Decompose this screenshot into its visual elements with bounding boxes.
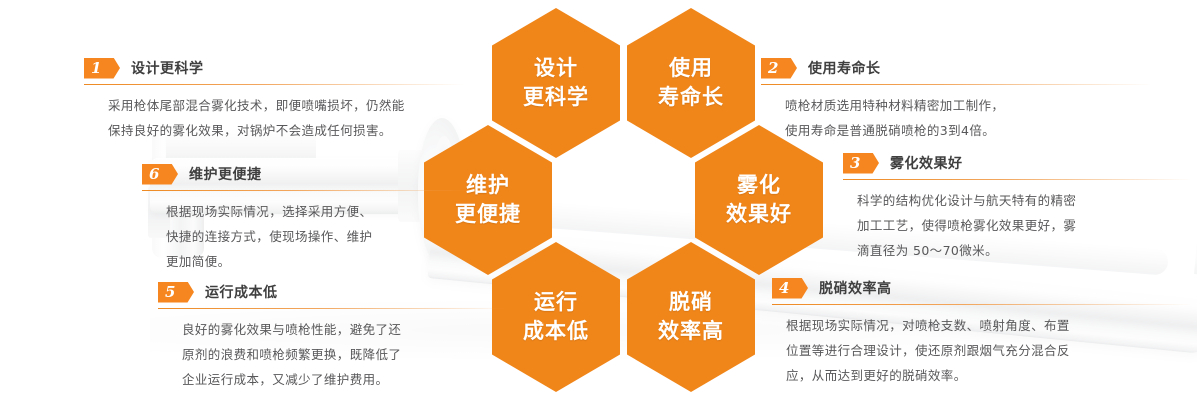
feature-5-line-2: 原剂的浪费和喷枪频繁更换，既降低了 (182, 342, 508, 367)
hexagon-design-line1: 设计 (534, 54, 578, 83)
feature-5-number: 5 (165, 285, 175, 300)
feature-3-line-2: 加工工艺，使得喷枪雾化效果更好，雾 (857, 213, 1191, 238)
hexagon-design-line2: 更科学 (523, 83, 589, 112)
feature-block-3: 3 雾化效果好 科学的结构优化设计与航天特有的精密 加工工艺，使得喷枪雾化效果更… (843, 152, 1191, 263)
hexagon-atomization-line1: 雾化 (737, 171, 781, 200)
feature-6-line-3: 更加简便。 (166, 249, 472, 274)
feature-6-number-badge-icon: 6 (142, 164, 178, 185)
feature-2-number-badge-icon: 2 (761, 58, 797, 79)
hexagon-cost-line2: 成本低 (523, 317, 589, 346)
feature-1-header: 1 设计更科学 (84, 57, 464, 79)
hexagon-maintenance-line1: 维护 (466, 171, 510, 200)
feature-4-title: 脱硝效率高 (819, 278, 892, 298)
feature-5-line-1: 良好的雾化效果与喷枪性能，避免了还 (182, 317, 508, 342)
feature-2-header: 2 使用寿命长 (761, 57, 1151, 79)
feature-4-divider (772, 304, 1192, 305)
feature-1-body: 采用枪体尾部混合雾化技术，即便喷嘴损坏，仍然能 保持良好的雾化效果，对锅炉不会造… (84, 93, 464, 143)
hexagon-cost[interactable]: 运行 成本低 (492, 242, 620, 392)
feature-4-line-3: 应，从而达到更好的脱硝效率。 (786, 363, 1192, 388)
feature-1-line-2: 保持良好的雾化效果，对锅炉不会造成任何损害。 (108, 118, 464, 143)
feature-1-line-1: 采用枪体尾部混合雾化技术，即便喷嘴损坏，仍然能 (108, 93, 464, 118)
feature-6-body: 根据现场实际情况，选择采用方便、 快捷的连接方式，使现场操作、维护 更加简便。 (142, 199, 472, 274)
hexagon-lifespan[interactable]: 使用 寿命长 (627, 8, 755, 158)
infographic-stage: 设计 更科学 使用 寿命长 维护 更便捷 雾化 效果好 运行 成本低 脱硝 效率… (0, 0, 1197, 413)
feature-5-divider (158, 308, 508, 309)
feature-3-divider (843, 179, 1191, 180)
feature-2-line-1: 喷枪材质选用特种材料精密加工制作， (785, 93, 1151, 118)
feature-block-4: 4 脱硝效率高 根据现场实际情况，对喷枪支数、喷射角度、布置 位置等进行合理设计… (772, 277, 1192, 388)
feature-3-title: 雾化效果好 (890, 153, 963, 173)
feature-4-line-2: 位置等进行合理设计，使还原剂跟烟气充分混合反 (786, 338, 1192, 363)
feature-2-divider (761, 84, 1151, 85)
feature-5-number-badge-icon: 5 (158, 282, 194, 303)
hexagon-lifespan-line1: 使用 (669, 54, 713, 83)
feature-2-title: 使用寿命长 (808, 58, 881, 78)
feature-6-number: 6 (149, 167, 159, 182)
feature-4-body: 根据现场实际情况，对喷枪支数、喷射角度、布置 位置等进行合理设计，使还原剂跟烟气… (772, 313, 1192, 388)
feature-6-header: 6 维护更便捷 (142, 163, 472, 185)
feature-5-title: 运行成本低 (205, 282, 278, 302)
feature-block-2: 2 使用寿命长 喷枪材质选用特种材料精密加工制作， 使用寿命是普通脱硝喷枪的3到… (761, 57, 1151, 143)
hexagon-design[interactable]: 设计 更科学 (492, 8, 620, 158)
feature-6-line-2: 快捷的连接方式，使现场操作、维护 (166, 224, 472, 249)
feature-6-divider (142, 190, 472, 191)
feature-4-number: 4 (779, 281, 789, 296)
feature-5-line-3: 企业运行成本，又减少了维护费用。 (182, 367, 508, 392)
feature-6-line-1: 根据现场实际情况，选择采用方便、 (166, 199, 472, 224)
feature-1-number: 1 (91, 61, 101, 76)
hexagon-atomization-line2: 效果好 (726, 200, 792, 229)
feature-block-5: 5 运行成本低 良好的雾化效果与喷枪性能，避免了还 原剂的浪费和喷枪频繁更换，既… (158, 281, 508, 392)
hexagon-denitration[interactable]: 脱硝 效率高 (627, 242, 755, 392)
feature-1-number-badge-icon: 1 (84, 58, 120, 79)
hexagon-lifespan-line2: 寿命长 (658, 83, 724, 112)
feature-3-body: 科学的结构优化设计与航天特有的精密 加工工艺，使得喷枪雾化效果更好，雾 滴直径为… (843, 188, 1191, 263)
feature-2-line-2: 使用寿命是普通脱硝喷枪的3到4倍。 (785, 118, 1151, 143)
feature-4-header: 4 脱硝效率高 (772, 277, 1192, 299)
feature-block-6: 6 维护更便捷 根据现场实际情况，选择采用方便、 快捷的连接方式，使现场操作、维… (142, 163, 472, 274)
feature-6-title: 维护更便捷 (189, 164, 262, 184)
feature-5-body: 良好的雾化效果与喷枪性能，避免了还 原剂的浪费和喷枪频繁更换，既降低了 企业运行… (158, 317, 508, 392)
feature-3-header: 3 雾化效果好 (843, 152, 1191, 174)
feature-4-line-1: 根据现场实际情况，对喷枪支数、喷射角度、布置 (786, 313, 1192, 338)
feature-2-number: 2 (768, 61, 778, 76)
feature-5-header: 5 运行成本低 (158, 281, 508, 303)
feature-3-line-3: 滴直径为 50～70微米。 (857, 238, 1191, 263)
feature-3-line-1: 科学的结构优化设计与航天特有的精密 (857, 188, 1191, 213)
feature-block-1: 1 设计更科学 采用枪体尾部混合雾化技术，即便喷嘴损坏，仍然能 保持良好的雾化效… (84, 57, 464, 143)
hexagon-cost-line1: 运行 (534, 288, 578, 317)
feature-2-body: 喷枪材质选用特种材料精密加工制作， 使用寿命是普通脱硝喷枪的3到4倍。 (761, 93, 1151, 143)
hexagon-denitration-line2: 效率高 (658, 317, 724, 346)
feature-3-number: 3 (850, 156, 860, 171)
feature-1-title: 设计更科学 (131, 58, 204, 78)
hexagon-atomization[interactable]: 雾化 效果好 (695, 125, 823, 275)
feature-1-divider (84, 84, 464, 85)
hexagon-denitration-line1: 脱硝 (669, 288, 713, 317)
feature-4-number-badge-icon: 4 (772, 278, 808, 299)
feature-3-number-badge-icon: 3 (843, 153, 879, 174)
